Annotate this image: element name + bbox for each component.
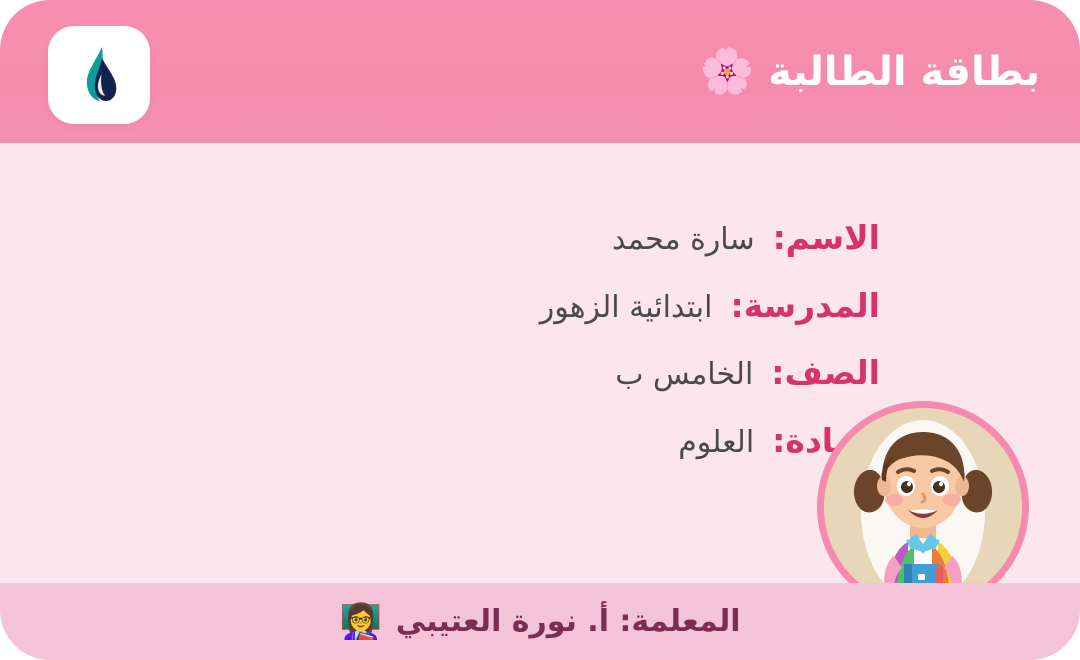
info-row-subject: المادة: العلوم <box>280 420 880 462</box>
page-title: بطاقة الطالبة <box>768 52 1040 92</box>
info-row-grade: الصف: الخامس ب <box>280 352 880 394</box>
student-avatar <box>817 401 1029 613</box>
app-logo-badge <box>48 26 150 124</box>
student-illustration-icon <box>824 408 1022 606</box>
teacher-name-label: المعلمة: أ. نورة العتيبي <box>396 604 741 640</box>
info-label-grade: الصف: <box>771 352 880 393</box>
header-title-group: بطاقة الطالبة 🌸 <box>700 0 1041 143</box>
info-label-name: الاسم: <box>773 217 880 258</box>
info-label-school: المدرسة: <box>730 285 880 326</box>
card-body: الاسم: سارة محمد المدرسة: ابتدائية الزهو… <box>0 143 1080 583</box>
info-value-grade: الخامس ب <box>615 356 753 394</box>
card-header: بطاقة الطالبة 🌸 <box>0 0 1080 143</box>
student-info-list: الاسم: سارة محمد المدرسة: ابتدائية الزهو… <box>280 217 880 461</box>
teacher-icon: 👩‍🏫 <box>339 605 381 639</box>
info-value-name: سارة محمد <box>612 221 755 259</box>
info-value-subject: العلوم <box>678 424 754 462</box>
cherry-blossom-icon: 🌸 <box>700 50 755 94</box>
info-row-name: الاسم: سارة محمد <box>280 217 880 259</box>
student-card: بطاقة الطالبة 🌸 الاسم: سارة محمد المدرسة… <box>0 0 1080 660</box>
droplet-flame-logo-icon <box>76 44 122 106</box>
info-value-school: ابتدائية الزهور <box>540 289 713 327</box>
info-row-school: المدرسة: ابتدائية الزهور <box>280 285 880 327</box>
card-footer: المعلمة: أ. نورة العتيبي 👩‍🏫 <box>0 583 1080 660</box>
